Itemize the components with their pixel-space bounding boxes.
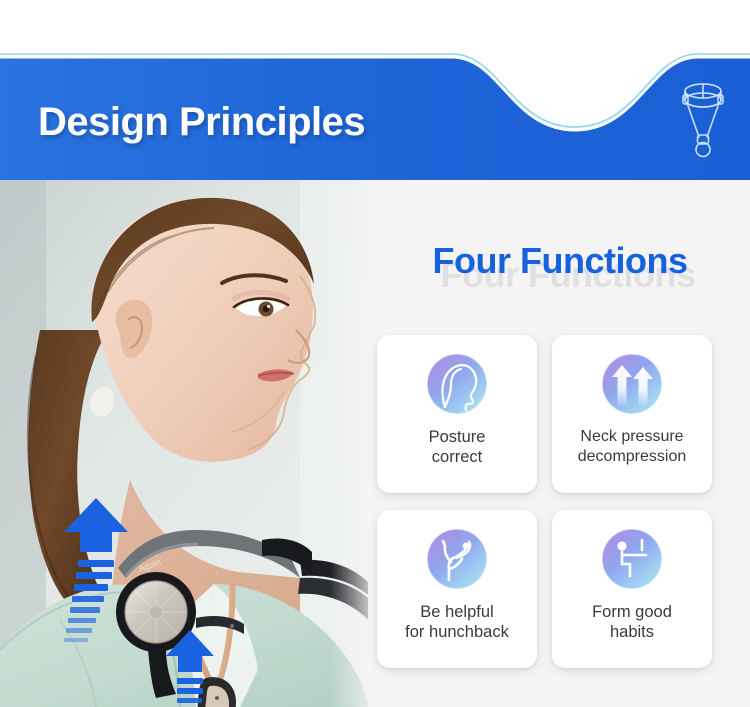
function-cards-grid: Posture correct bbox=[377, 335, 719, 675]
function-card-good-habits[interactable]: Form good habits bbox=[552, 510, 712, 668]
section-heading-group: Four Functions Four Functions bbox=[380, 240, 740, 310]
function-card-hunchback[interactable]: Be helpful for hunchback bbox=[377, 510, 537, 668]
function-card-label: Neck pressure decompression bbox=[552, 427, 712, 466]
page-title: Design Principles bbox=[38, 100, 365, 145]
product-infographic-page: Design Principles bbox=[0, 0, 750, 707]
double-up-arrows-icon bbox=[596, 349, 668, 421]
head-profile-posture-icon bbox=[421, 349, 493, 421]
function-card-label: Form good habits bbox=[552, 602, 712, 642]
yoga-dancer-pose-icon bbox=[421, 524, 493, 596]
section-heading: Four Functions bbox=[380, 240, 740, 282]
top-white-strip bbox=[0, 0, 750, 55]
function-card-neck-decompression[interactable]: Neck pressure decompression bbox=[552, 335, 712, 493]
neck-massager-outline-icon bbox=[676, 78, 730, 162]
person-sitting-at-desk-icon bbox=[596, 524, 668, 596]
function-card-label: Be helpful for hunchback bbox=[377, 602, 537, 642]
function-card-label: Posture correct bbox=[377, 427, 537, 467]
function-card-posture-correct[interactable]: Posture correct bbox=[377, 335, 537, 493]
